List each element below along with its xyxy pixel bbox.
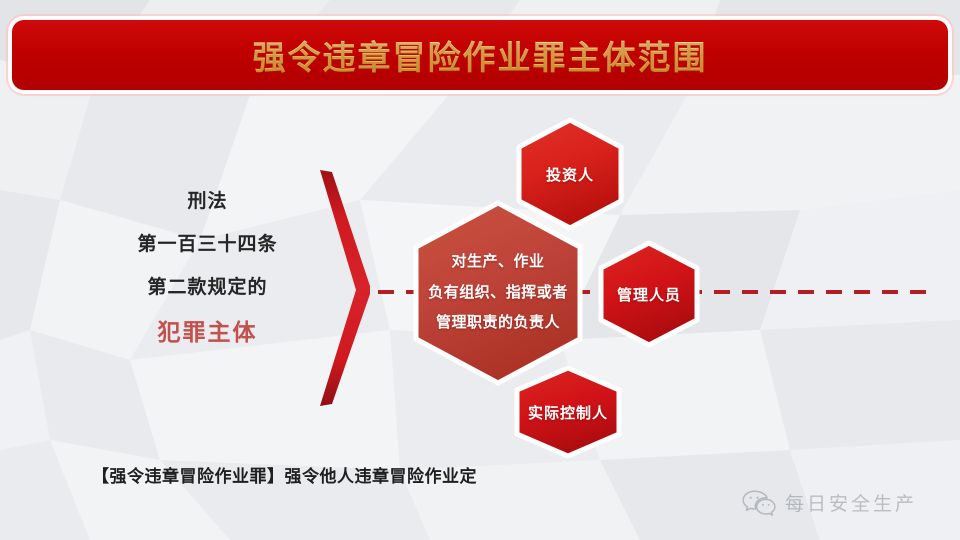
hexagon-node-controller[interactable]: 实际控制人 — [511, 364, 625, 460]
hexagon-center-label: 对生产、作业 负有组织、指挥或者 管理职责的负责人 — [428, 247, 568, 339]
wechat-icon — [742, 489, 776, 516]
hexagon-node-investor[interactable]: 投资人 — [513, 116, 627, 232]
left-text-line-3: 第二款规定的 — [95, 278, 320, 297]
left-text-line-1: 刑法 — [95, 192, 320, 211]
hexagon-node-manager[interactable]: 管理人员 — [595, 239, 703, 349]
left-text-line-2: 第一百三十四条 — [95, 235, 320, 254]
hexagon-controller-label: 实际控制人 — [528, 402, 608, 423]
left-text-block: 刑法 第一百三十四条 第二款规定的 犯罪主体 — [95, 192, 320, 344]
bottom-caption: 【强令违章冒险作业罪】强令他人违章冒险作业定 — [92, 462, 477, 487]
center-label-line-2: 负有组织、指挥或者 — [428, 278, 568, 309]
hexagon-manager-label: 管理人员 — [617, 284, 681, 305]
chevron-right-arrow-icon — [310, 168, 380, 408]
slide-title-bar: 强令违章冒险作业罪主体范围 — [12, 20, 948, 90]
watermark: 每日安全生产 — [742, 489, 917, 516]
page-title: 强令违章冒险作业罪主体范围 — [253, 31, 708, 79]
center-label-line-3: 管理职责的负责人 — [428, 308, 568, 339]
center-label-line-1: 对生产、作业 — [428, 247, 568, 278]
watermark-label: 每日安全生产 — [785, 489, 917, 516]
hexagon-investor-label: 投资人 — [546, 164, 594, 185]
left-text-line-4-accent: 犯罪主体 — [95, 321, 320, 344]
slide-canvas: 强令违章冒险作业罪主体范围 刑法 第一百三十四条 第二款规定的 犯罪主体 — [0, 0, 960, 540]
